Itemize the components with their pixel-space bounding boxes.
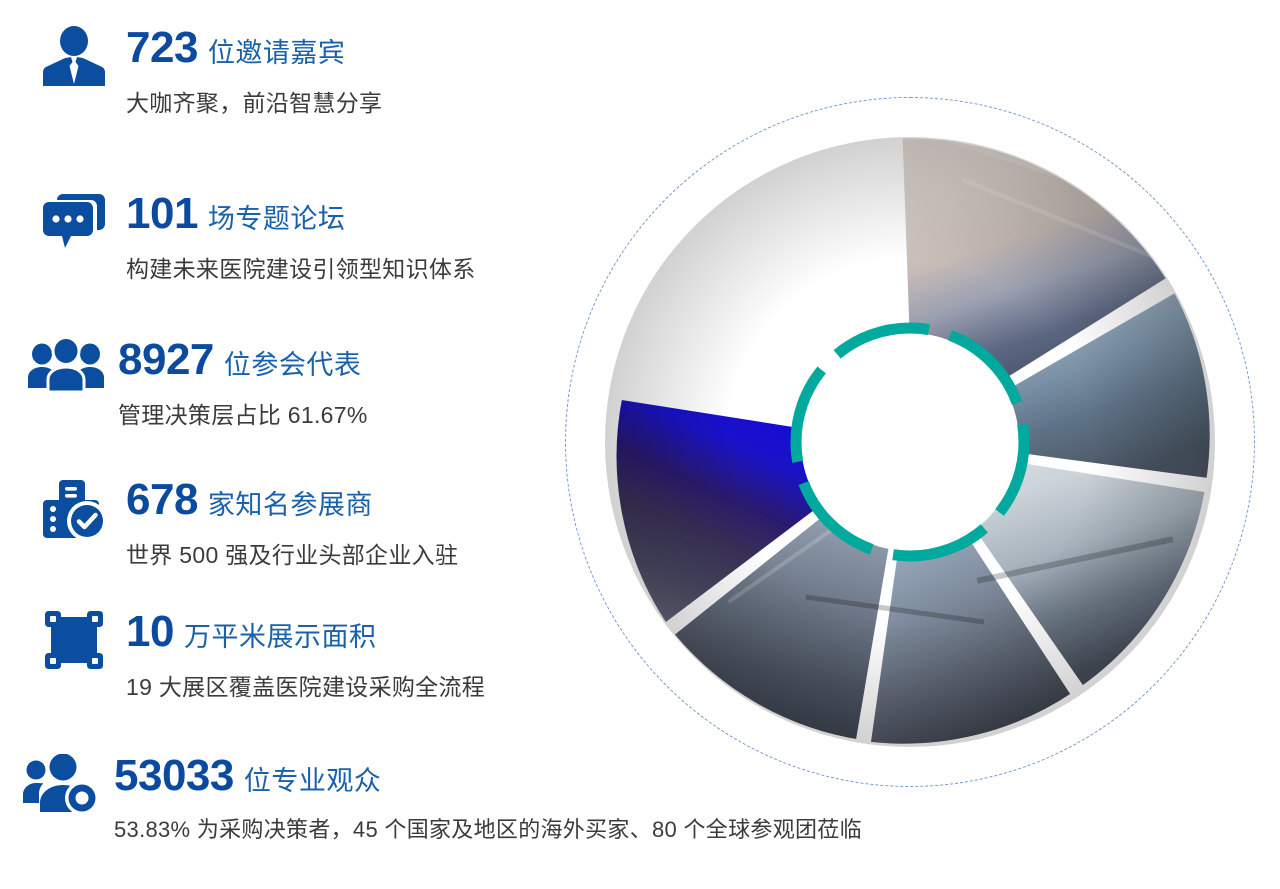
stat-unit: 位邀请嘉宾 — [208, 40, 346, 67]
stat-unit: 万平米展示面积 — [184, 624, 377, 651]
stat-unit: 场专题论坛 — [208, 206, 346, 233]
stat-text-block: 678 家知名参展商 世界 500 强及行业头部企业入驻 — [122, 478, 458, 570]
stat-description: 世界 500 强及行业头部企业入驻 — [126, 536, 458, 570]
stat-text-block: 10 万平米展示面积 19 大展区覆盖医院建设采购全流程 — [122, 610, 485, 702]
stat-description: 19 大展区覆盖医院建设采购全流程 — [126, 668, 485, 702]
factory-check-icon — [26, 478, 122, 540]
infographic-page: 723 位邀请嘉宾 大咖齐聚，前沿智慧分享 101 场 — [0, 0, 1280, 889]
stat-text-block: 723 位邀请嘉宾 大咖齐聚，前沿智慧分享 — [122, 26, 382, 118]
stat-headline: 723 位邀请嘉宾 — [126, 26, 382, 70]
stat-headline: 10 万平米展示面积 — [126, 610, 485, 654]
stat-headline: 101 场专题论坛 — [126, 192, 476, 236]
stat-item-exhibitors: 678 家知名参展商 世界 500 强及行业头部企业入驻 — [26, 478, 458, 570]
stat-item-exhibition-area: 10 万平米展示面积 19 大展区覆盖医院建设采购全流程 — [26, 610, 485, 702]
stat-number: 53033 — [114, 754, 234, 798]
stat-text-block: 101 场专题论坛 构建未来医院建设引领型知识体系 — [122, 192, 476, 284]
stat-unit: 位参会代表 — [224, 352, 362, 379]
stat-headline: 678 家知名参展商 — [126, 478, 458, 522]
person-suit-icon — [26, 26, 122, 88]
circular-photo-collage — [548, 60, 1272, 820]
stat-text-block: 8927 位参会代表 管理决策层占比 61.67% — [114, 338, 368, 430]
area-square-icon — [26, 610, 122, 670]
stat-number: 8927 — [118, 338, 214, 382]
stat-number: 10 — [126, 610, 174, 654]
statistics-list: 723 位邀请嘉宾 大咖齐聚，前沿智慧分享 101 场 — [0, 0, 640, 889]
stat-number: 678 — [126, 478, 198, 522]
stat-item-invited-guests: 723 位邀请嘉宾 大咖齐聚，前沿智慧分享 — [26, 26, 382, 118]
stat-unit: 位专业观众 — [244, 768, 382, 795]
stat-item-forums: 101 场专题论坛 构建未来医院建设引领型知识体系 — [26, 192, 476, 284]
stat-headline: 8927 位参会代表 — [118, 338, 368, 382]
stat-number: 723 — [126, 26, 198, 70]
visitors-icon — [14, 754, 110, 816]
teal-dashed-ring — [785, 317, 1035, 567]
stat-description: 管理决策层占比 61.67% — [118, 396, 368, 430]
stat-description: 构建未来医院建设引领型知识体系 — [126, 250, 476, 284]
stat-number: 101 — [126, 192, 198, 236]
stat-unit: 家知名参展商 — [208, 492, 373, 519]
stat-item-delegates: 8927 位参会代表 管理决策层占比 61.67% — [18, 338, 368, 430]
speech-bubble-dots-icon — [26, 192, 122, 250]
stat-description: 大咖齐聚，前沿智慧分享 — [126, 84, 382, 118]
people-group-icon — [18, 338, 114, 394]
